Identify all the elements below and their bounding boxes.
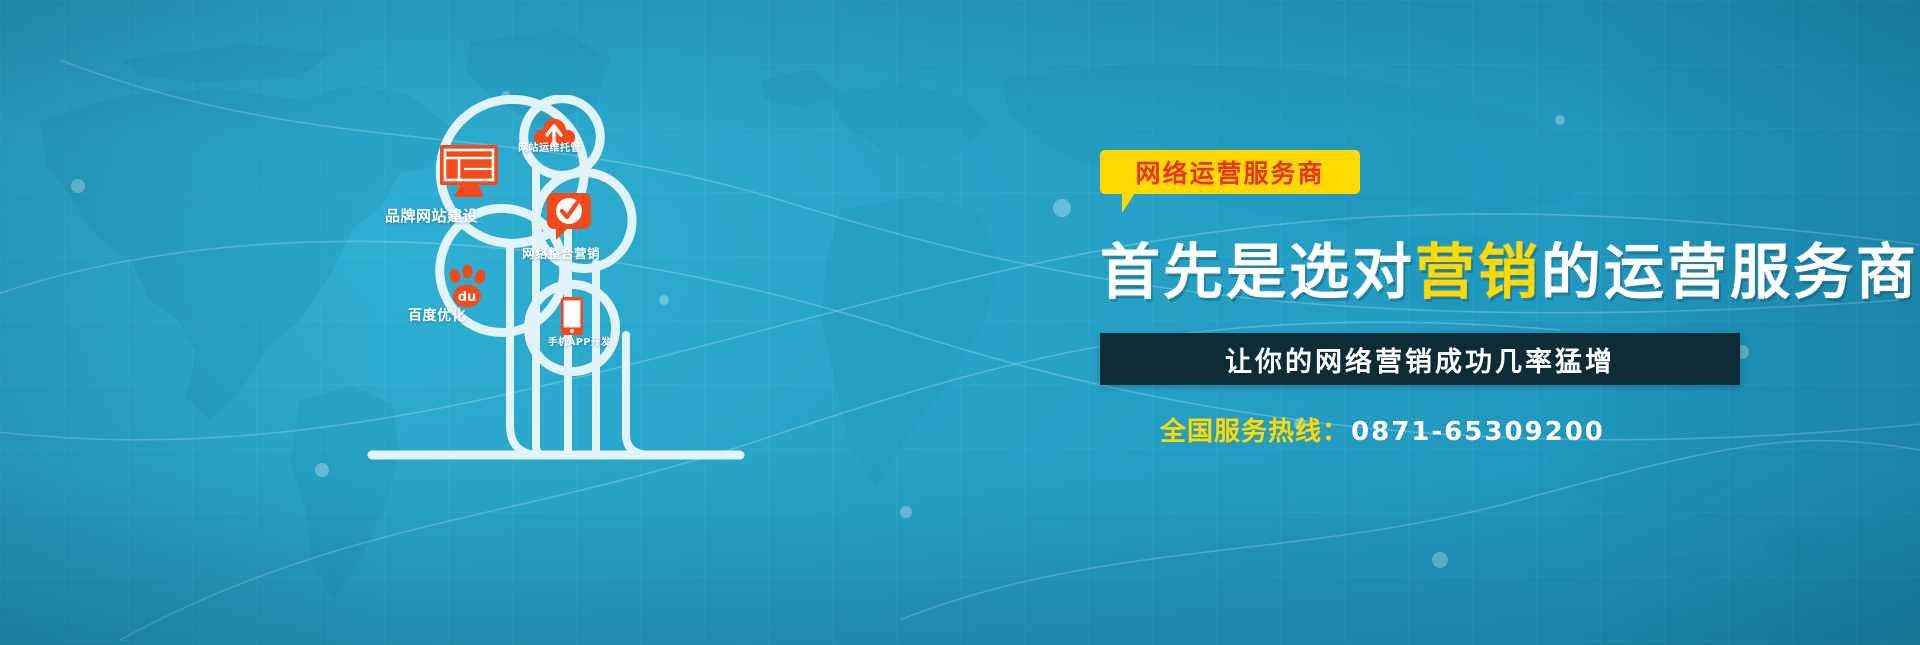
- hotline-number: 0871-65309200: [1351, 417, 1605, 447]
- tree-stems-and-rings: [340, 95, 760, 535]
- hotline-label: 全国服务热线：: [1160, 411, 1349, 448]
- node-baidu-optimization[interactable]: du: [444, 263, 490, 309]
- baidu-paw-icon: du: [444, 263, 490, 309]
- tagline-badge-tail: [1122, 193, 1135, 213]
- tagline-badge-text: 网络运营服务商: [1135, 154, 1324, 190]
- banner-content: 网络运营服务商 首先是选对营销的运营服务商 让你的网络营销成功几率猛增 全国服务…: [1100, 150, 1860, 448]
- tagline-badge-body: 网络运营服务商: [1100, 150, 1360, 194]
- node-cloud-hosting[interactable]: [532, 113, 576, 147]
- node-mobile-app[interactable]: [561, 297, 583, 335]
- headline-part2: 的运营服务商: [1541, 238, 1919, 308]
- headline-accent: 营销: [1415, 238, 1541, 308]
- baidu-icon-text: du: [458, 290, 477, 305]
- headline: 首先是选对营销的运营服务商: [1100, 224, 1860, 311]
- node-integrated-marketing[interactable]: [547, 193, 591, 241]
- check-bubble-icon: [547, 193, 591, 241]
- monitor-website-icon: [438, 143, 500, 199]
- subtitle-bar: 让你的网络营销成功几率猛增: [1100, 333, 1740, 385]
- hotline: 全国服务热线： 0871-65309200: [1160, 411, 1860, 448]
- headline-part1: 首先是选对: [1100, 238, 1415, 308]
- promo-banner: 品牌网站建设 网站运维托管 网络整合营销: [0, 0, 1920, 645]
- mobile-phone-icon: [561, 297, 583, 335]
- tagline-badge: 网络运营服务商: [1100, 150, 1360, 202]
- node-website[interactable]: [438, 143, 500, 199]
- cloud-upload-icon: [532, 113, 576, 147]
- subtitle-text: 让你的网络营销成功几率猛增: [1225, 340, 1615, 379]
- services-tree-graphic: 品牌网站建设 网站运维托管 网络整合营销: [340, 95, 760, 535]
